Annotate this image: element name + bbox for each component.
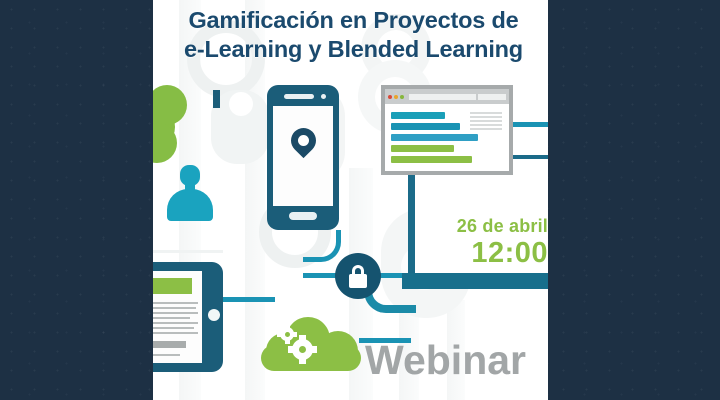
- padlock-body: [349, 274, 367, 288]
- webinar-poster: 26 de abril 12:00 Webinar Gamificación e…: [153, 0, 548, 400]
- traffic-light-close-icon: [388, 95, 392, 99]
- tablet-text-line: [153, 332, 198, 334]
- title-line-1: Gamificación en Proyectos de: [166, 6, 541, 35]
- avatar-head: [180, 165, 200, 186]
- browser-window-icon: [381, 85, 513, 175]
- person-avatar-icon: [167, 165, 213, 221]
- browser-titlebar: [385, 89, 509, 104]
- tablet-text-line: [153, 312, 198, 314]
- sidebar-line: [470, 128, 502, 130]
- gear-small-hole: [285, 332, 290, 337]
- page-title: Gamificación en Proyectos de e-Learning …: [166, 6, 541, 64]
- tablet-text-line: [153, 327, 194, 329]
- wire-tablet: [217, 297, 275, 302]
- tablet-text-line: [153, 341, 186, 348]
- monitor-base: [402, 273, 548, 289]
- phone-home-button: [289, 212, 317, 220]
- tablet-document-icon: [153, 262, 223, 372]
- location-pin-icon: [286, 123, 321, 158]
- traffic-light-minimize-icon: [394, 95, 398, 99]
- phone-speaker: [284, 94, 314, 99]
- webinar-label: Webinar: [365, 336, 526, 384]
- gear-large-hole: [299, 346, 306, 353]
- avatar-body: [167, 189, 213, 221]
- sidebar-line: [470, 116, 502, 118]
- ghost-wire-1: [153, 250, 223, 253]
- tablet-text-line: [153, 354, 180, 356]
- content-bar: [391, 134, 478, 141]
- sidebar-line: [470, 112, 502, 114]
- tablet-text-line: [153, 302, 198, 304]
- wire-phone-to-lock: [303, 230, 341, 262]
- event-datetime: 26 de abril 12:00: [423, 215, 548, 269]
- tablet-header-block: [153, 278, 192, 294]
- browser-stand: [213, 90, 220, 108]
- tablet-home-button: [208, 309, 220, 321]
- tablet-text-line: [153, 322, 198, 324]
- traffic-light-maximize-icon: [400, 95, 404, 99]
- content-bar: [391, 112, 445, 119]
- smartphone-icon: [267, 85, 339, 230]
- tablet-text-line: [153, 307, 196, 309]
- screenshot-canvas: 26 de abril 12:00 Webinar Gamificación e…: [0, 0, 720, 400]
- green-cloud-person-icon: [153, 85, 199, 163]
- content-bar: [391, 156, 472, 163]
- cloud-with-gears-icon: [258, 315, 366, 373]
- phone-camera: [321, 94, 326, 99]
- tablet-screen: [153, 271, 202, 363]
- content-bar: [391, 123, 460, 130]
- content-bar: [391, 145, 454, 152]
- phone-screen: [273, 106, 333, 206]
- sidebar-line: [470, 124, 502, 126]
- title-line-2: e-Learning y Blended Learning: [166, 35, 541, 64]
- address-bar: [409, 94, 476, 100]
- event-date: 26 de abril: [423, 215, 548, 237]
- tablet-text-line: [153, 317, 190, 319]
- wire-lock-left: [303, 273, 337, 278]
- browser-sidebar-lines: [470, 112, 502, 132]
- ghost-person-1-head: [229, 92, 253, 116]
- sidebar-line: [470, 120, 502, 122]
- padlock-badge-icon: [335, 253, 381, 299]
- wire-browser-right: [509, 122, 548, 127]
- event-time: 12:00: [423, 237, 548, 269]
- green-blob-b: [153, 85, 187, 125]
- search-bar: [478, 94, 506, 100]
